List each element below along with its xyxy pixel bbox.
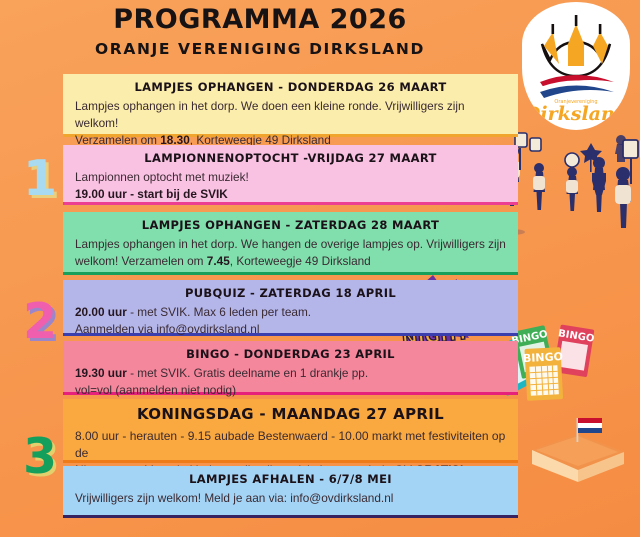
- page-header: PROGRAMMA 2026 ORANJE VERENIGING DIRKSLA…: [0, 4, 520, 58]
- item-panel-3[interactable]: LAMPJES OPHANGEN - ZATERDAG 28 MAART Lam…: [63, 212, 518, 275]
- item-3-line2a: welkom! Verzamelen om: [75, 254, 207, 268]
- page-subtitle: ORANJE VERENIGING DIRKSLAND: [0, 40, 520, 58]
- item-panel-4[interactable]: PUBQUIZ - ZATERDAG 18 APRIL 20.00 uur - …: [63, 280, 518, 336]
- item-panel-1[interactable]: LAMPJES OPHANGEN - DONDERDAG 26 MAART La…: [63, 74, 518, 137]
- item-5-line2: vol=vol (aanmelden niet nodig): [75, 383, 236, 397]
- item-body-1: Lampjes ophangen in het dorp. We doen ee…: [75, 98, 506, 148]
- item-number-1: 1: [14, 154, 66, 203]
- item-panel-5[interactable]: BINGO - DONDERDAG 23 APRIL 19.30 uur - m…: [63, 341, 518, 395]
- svg-text:BINGO: BINGO: [523, 350, 564, 365]
- item-panel-7[interactable]: LAMPJES AFHALEN - 6/7/8 MEI Vrijwilliger…: [63, 466, 518, 518]
- item-body-2: Lampionnen optocht met muziek! 19.00 uur…: [75, 169, 506, 203]
- item-4-line1c: - met SVIK. Max 6 leden per team.: [127, 305, 311, 319]
- item-5-time: 19.30 uur: [75, 366, 127, 380]
- item-7-line1: Vrijwilligers zijn welkom! Meld je aan v…: [75, 491, 393, 505]
- tompouce-pastry-icon: [518, 412, 636, 490]
- item-body-7: Vrijwilligers zijn welkom! Meld je aan v…: [75, 490, 506, 507]
- item-body-4: 20.00 uur - met SVIK. Max 6 leden per te…: [75, 304, 506, 338]
- item-1-line1: Lampjes ophangen in het dorp. We doen ee…: [75, 99, 465, 130]
- item-panel-6[interactable]: KONINGSDAG - MAANDAG 27 APRIL 8.00 uur -…: [63, 399, 518, 463]
- item-body-5: 19.30 uur - met SVIK. Gratis deelname en…: [75, 365, 506, 399]
- item-panel-2[interactable]: LAMPIONNENOPTOCHT -VRIJDAG 27 MAART Lamp…: [63, 145, 518, 205]
- logo-script-text: Dirksland: [523, 103, 628, 125]
- item-6-line1: 8.00 uur - herauten - 9.15 aubade Besten…: [75, 429, 505, 460]
- item-4-time: 20.00 uur: [75, 305, 127, 319]
- item-4-line2: Aanmelden via info@ovdirksland.nl: [75, 322, 259, 336]
- item-title-4: PUBQUIZ - ZATERDAG 18 APRIL: [75, 286, 506, 300]
- page-title: PROGRAMMA 2026: [0, 4, 520, 35]
- crown-icon: Oranjevereniging Dirksland: [522, 2, 630, 130]
- oranje-vereniging-dirksland-logo: Oranjevereniging Dirksland: [522, 2, 630, 130]
- item-3-line2c: , Korteweegje 49 Dirksland: [230, 254, 371, 268]
- item-number-2: 2: [14, 297, 66, 346]
- item-3-time: 7.45: [207, 254, 230, 268]
- svg-text:BINGO: BINGO: [557, 328, 595, 345]
- item-5-line1c: - met SVIK. Gratis deelname en 1 drankje…: [127, 366, 368, 380]
- item-2-time: 19.00 uur - start bij de SVIK: [75, 187, 228, 201]
- item-title-5: BINGO - DONDERDAG 23 APRIL: [75, 347, 506, 361]
- item-title-1: LAMPJES OPHANGEN - DONDERDAG 26 MAART: [75, 80, 506, 94]
- item-title-3: LAMPJES OPHANGEN - ZATERDAG 28 MAART: [75, 218, 506, 232]
- item-title-7: LAMPJES AFHALEN - 6/7/8 MEI: [75, 472, 506, 486]
- item-2-line1: Lampionnen optocht met muziek!: [75, 170, 249, 184]
- item-title-6: KONINGSDAG - MAANDAG 27 APRIL: [75, 405, 506, 423]
- item-number-3: 3: [14, 432, 66, 481]
- item-title-2: LAMPIONNENOPTOCHT -VRIJDAG 27 MAART: [75, 151, 506, 165]
- item-3-line1: Lampjes ophangen in het dorp. We hangen …: [75, 237, 506, 251]
- item-body-3: Lampjes ophangen in het dorp. We hangen …: [75, 236, 506, 270]
